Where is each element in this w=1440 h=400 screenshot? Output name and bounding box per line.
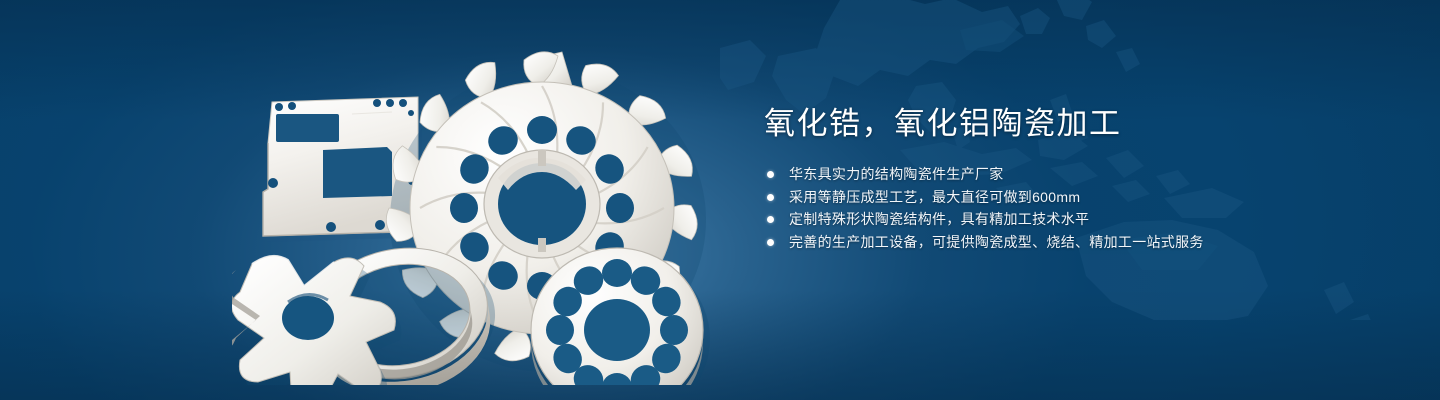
hero-banner: 氧化锆，氧化铝陶瓷加工 华东具实力的结构陶瓷件生产厂家 采用等静压成型工艺，最大… xyxy=(0,0,1440,400)
feature-list: 华东具实力的结构陶瓷件生产厂家 采用等静压成型工艺，最大直径可做到600mm 定… xyxy=(767,163,1384,253)
product-photo-group xyxy=(232,40,722,385)
bullet-dot-icon xyxy=(767,171,774,178)
list-item: 完善的生产加工设备，可提供陶瓷成型、烧结、精加工一站式服务 xyxy=(767,231,1384,254)
list-item: 华东具实力的结构陶瓷件生产厂家 xyxy=(767,163,1384,186)
list-item: 定制特殊形状陶瓷结构件，具有精加工技术水平 xyxy=(767,208,1384,231)
bullet-dot-icon xyxy=(767,216,774,223)
feature-text: 定制特殊形状陶瓷结构件，具有精加工技术水平 xyxy=(789,211,1089,227)
banner-content: 氧化锆，氧化铝陶瓷加工 华东具实力的结构陶瓷件生产厂家 采用等静压成型工艺，最大… xyxy=(764,104,1384,253)
page-title: 氧化锆，氧化铝陶瓷加工 xyxy=(764,104,1384,144)
bullet-dot-icon xyxy=(767,194,774,201)
feature-text: 采用等静压成型工艺，最大直径可做到600mm xyxy=(789,189,1080,205)
list-item: 采用等静压成型工艺，最大直径可做到600mm xyxy=(767,186,1384,209)
feature-text: 完善的生产加工设备，可提供陶瓷成型、烧结、精加工一站式服务 xyxy=(789,234,1204,250)
feature-text: 华东具实力的结构陶瓷件生产厂家 xyxy=(789,166,1004,182)
bullet-dot-icon xyxy=(767,239,774,246)
